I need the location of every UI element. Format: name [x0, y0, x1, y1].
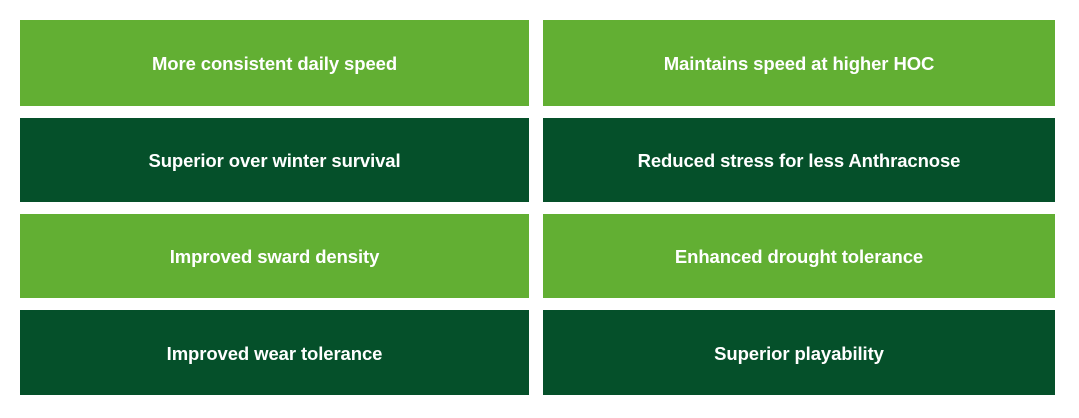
benefit-label: Improved sward density	[170, 246, 380, 267]
benefits-grid-canvas: More consistent daily speed Maintains sp…	[0, 0, 1079, 418]
benefit-label: Enhanced drought tolerance	[675, 246, 923, 267]
benefit-box-improved-wear-tolerance[interactable]: Improved wear tolerance	[20, 310, 529, 395]
benefit-label: Improved wear tolerance	[167, 343, 383, 364]
benefit-box-superior-playability[interactable]: Superior playability	[543, 310, 1055, 395]
benefit-box-enhanced-drought-tolerance[interactable]: Enhanced drought tolerance	[543, 214, 1055, 298]
benefit-label: More consistent daily speed	[152, 53, 397, 74]
benefit-label: Superior over winter survival	[148, 150, 400, 171]
benefit-box-more-consistent-daily-speed[interactable]: More consistent daily speed	[20, 20, 529, 106]
benefit-label: Reduced stress for less Anthracnose	[638, 150, 961, 171]
benefit-box-reduced-stress-for-less-anthracnose[interactable]: Reduced stress for less Anthracnose	[543, 118, 1055, 202]
benefit-label: Maintains speed at higher HOC	[664, 53, 935, 74]
benefit-label: Superior playability	[714, 343, 884, 364]
benefit-box-superior-over-winter-survival[interactable]: Superior over winter survival	[20, 118, 529, 202]
benefit-box-improved-sward-density[interactable]: Improved sward density	[20, 214, 529, 298]
benefits-grid: More consistent daily speed Maintains sp…	[20, 20, 1055, 395]
benefit-box-maintains-speed-at-higher-hoc[interactable]: Maintains speed at higher HOC	[543, 20, 1055, 106]
